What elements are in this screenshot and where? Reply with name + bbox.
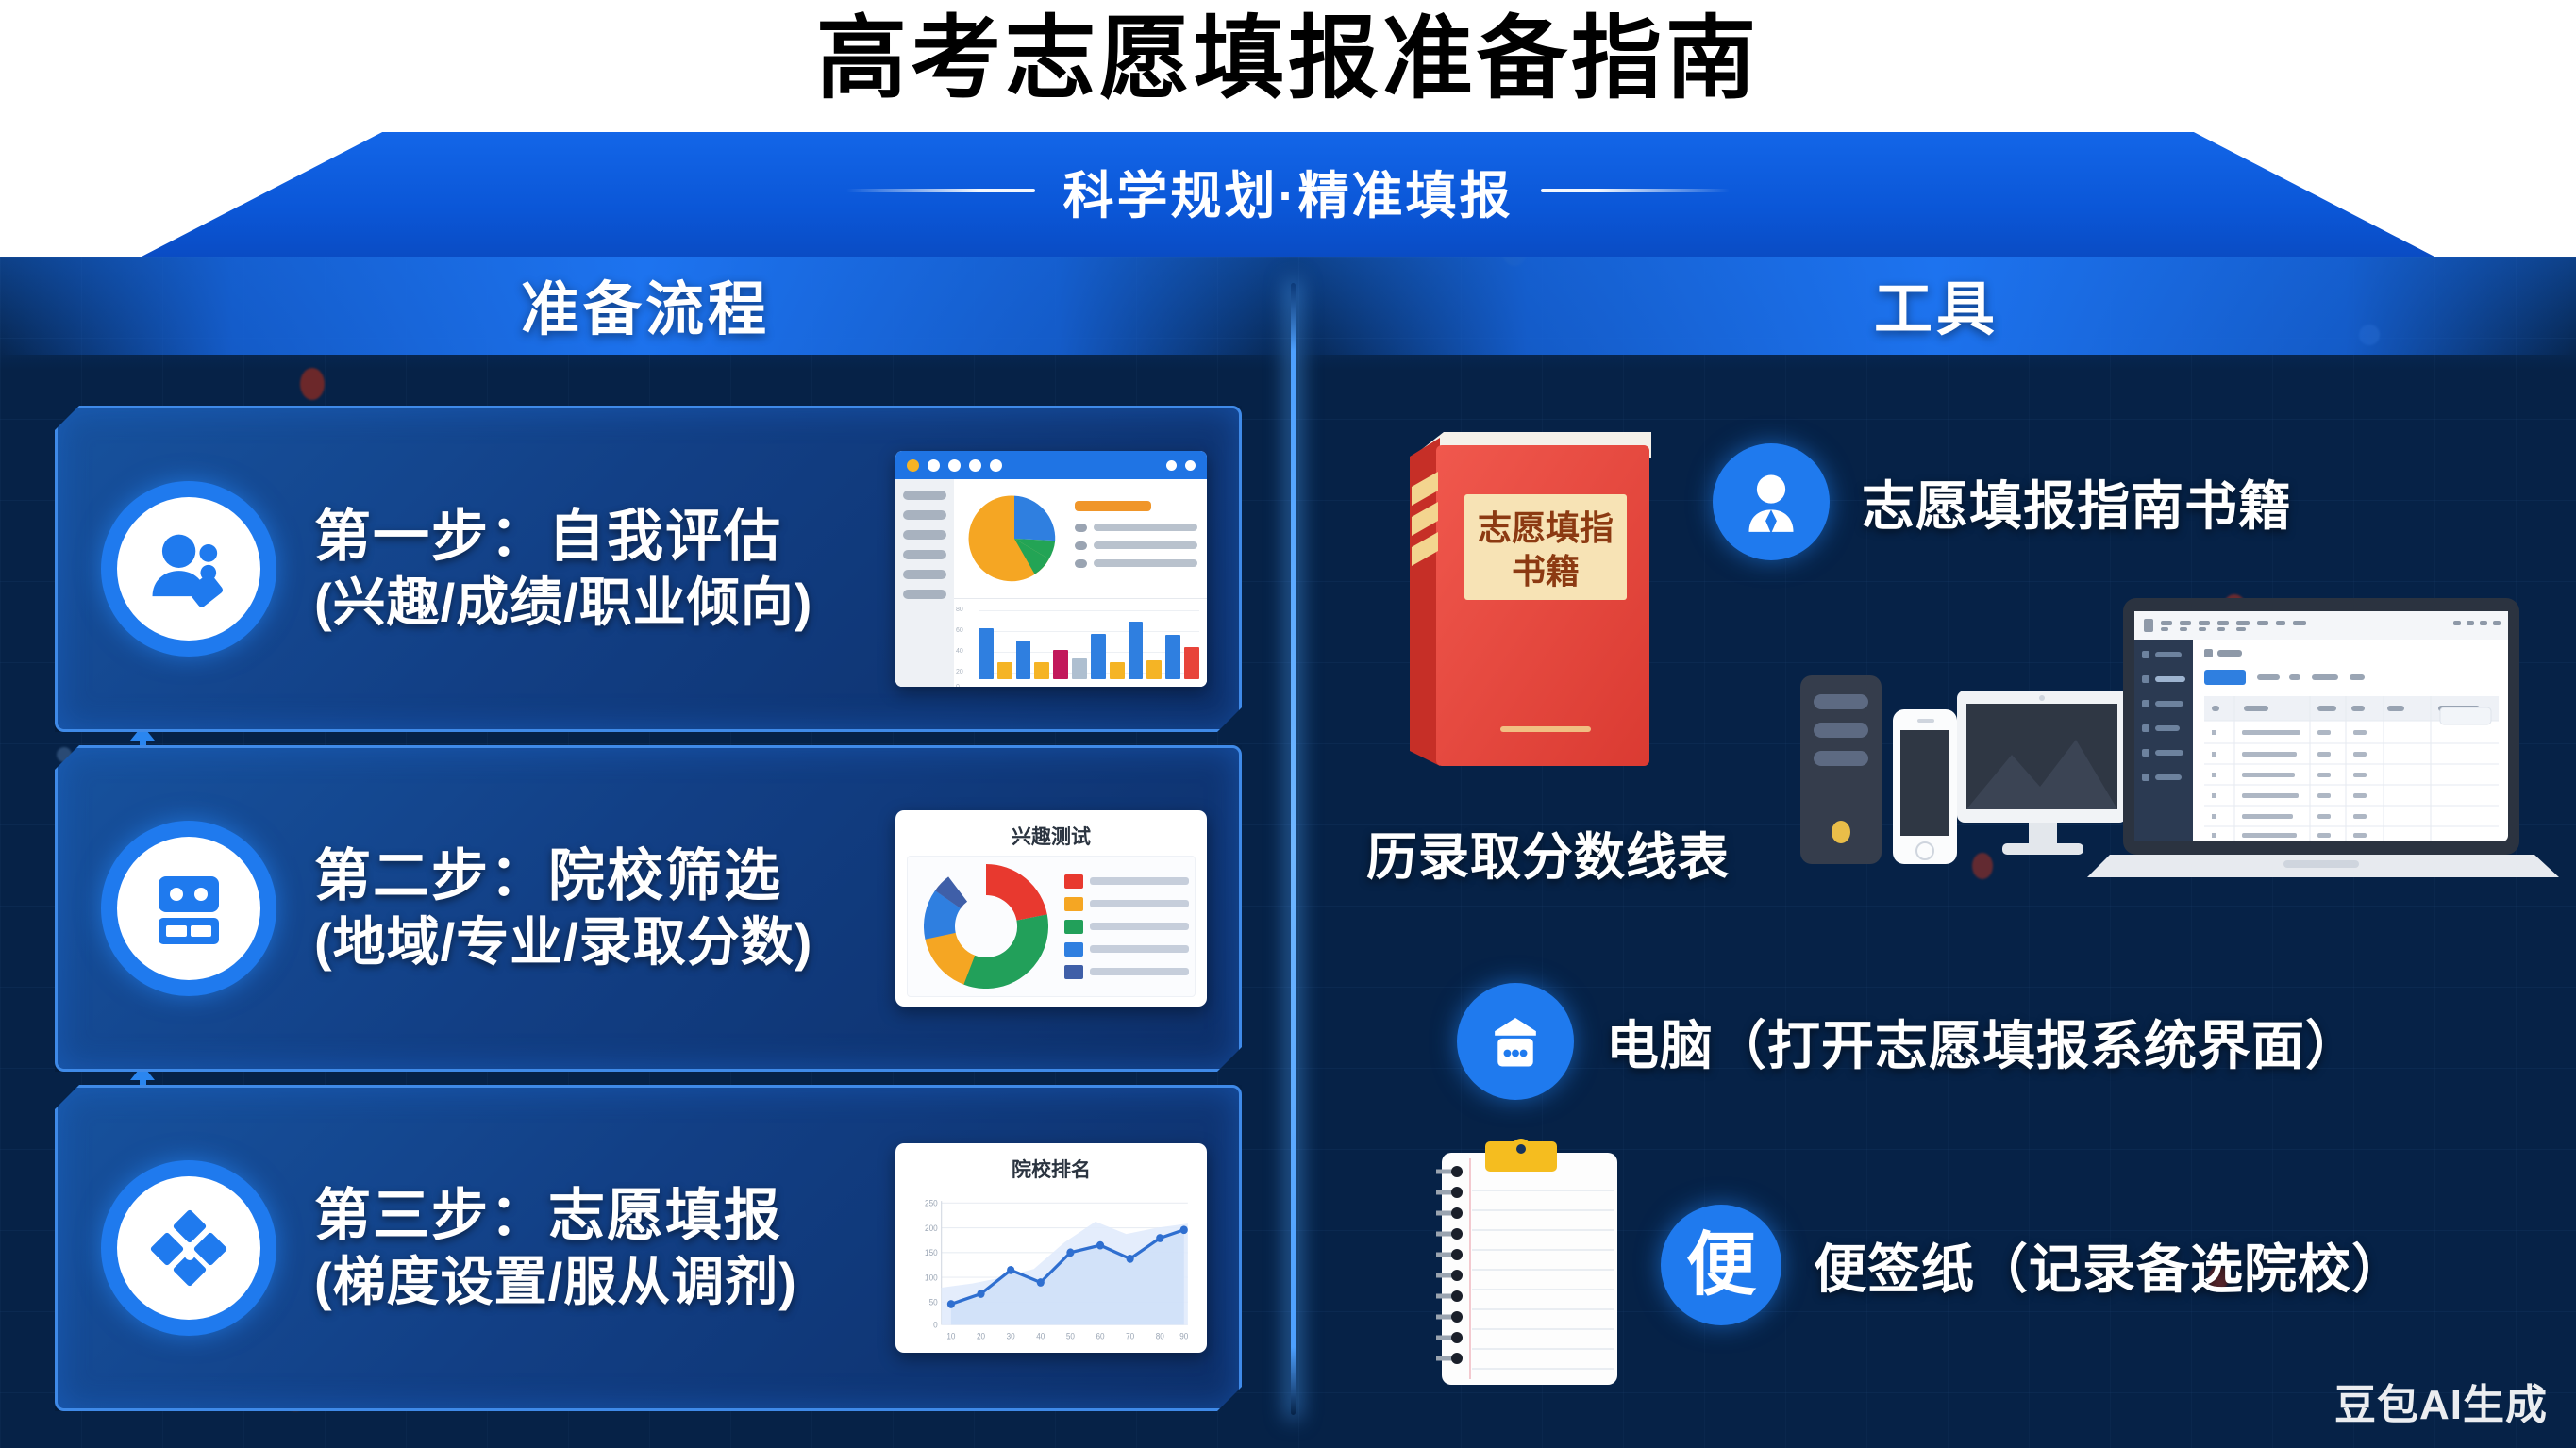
notepad-icon (1413, 1132, 1632, 1394)
poster-body: 准备流程 工具 (0, 257, 2576, 1448)
step-3-text: 第三步：志愿填报 (梯度设置/服从调剂) (314, 1181, 895, 1315)
step-card-1[interactable]: 第一步：自我评估 (兴趣/成绩/职业倾向) (55, 406, 1242, 732)
svg-text:50: 50 (929, 1297, 938, 1307)
step-2-thumbnail: 兴趣测试 (895, 810, 1207, 1007)
left-heading-label: 准备流程 (521, 261, 770, 346)
step-3-thumbnail: 院校排名 (895, 1143, 1207, 1353)
users-icon (140, 520, 238, 618)
line-chart-svg: 250200150 100500 102030 405060 708090 (907, 1189, 1196, 1343)
svg-text:10: 10 (946, 1331, 955, 1340)
step-1-title: 第一步：自我评估 (314, 502, 895, 571)
svg-text:200: 200 (925, 1223, 938, 1233)
poster-header: 高考志愿填报准备指南 科学规划·精准填报 (0, 0, 2576, 257)
page-title: 高考志愿填报准备指南 (0, 8, 2576, 111)
step-card-2[interactable]: 第二步：院校筛选 (地域/专业/录取分数) 兴趣测试 (55, 745, 1242, 1072)
svg-text:70: 70 (1126, 1331, 1134, 1340)
step-1-subtitle: (兴趣/成绩/职业倾向) (314, 571, 895, 635)
ranking-line-chart: 250200150 100500 102030 405060 708090 (907, 1189, 1196, 1343)
tool-label-sticky-note: 便签纸（记录备选院校） (1814, 1227, 2405, 1304)
left-column-heading: 准备流程 (0, 257, 1291, 355)
legend-item (1064, 920, 1189, 934)
step-1-icon-badge (101, 481, 276, 657)
person-badge-icon (1731, 462, 1811, 541)
interest-test-chart-title: 兴趣测试 (907, 822, 1196, 850)
step-2-icon-badge (101, 821, 276, 996)
donut-chart-icon (924, 864, 1048, 989)
robot-filter-icon (142, 861, 236, 956)
banner-rule-left (846, 189, 1035, 192)
bokeh-dot (300, 368, 325, 400)
donut-chart (908, 857, 1064, 996)
devices-icon (1793, 589, 2576, 900)
step-1-thumbnail: 80 60 40 20 0 (895, 451, 1207, 687)
svg-text:60: 60 (1096, 1331, 1104, 1340)
column-divider (1291, 283, 1296, 1415)
pie-chart-icon (963, 488, 1065, 590)
tool-row-book[interactable]: 志愿填报指南书籍 (1713, 443, 2292, 560)
step-1-text: 第一步：自我评估 (兴趣/成绩/职业倾向) (314, 502, 895, 636)
computer-box-icon (1479, 1005, 1552, 1078)
donut-legend (1064, 857, 1195, 996)
svg-text:250: 250 (925, 1198, 938, 1207)
tool-label-computer: 电脑（打开志愿填报系统界面） (1606, 1004, 2359, 1080)
svg-text:30: 30 (1007, 1331, 1015, 1340)
banner-rule-right (1541, 189, 1730, 192)
right-column-heading: 工具 (1296, 257, 2576, 355)
watermark: 豆包AI生成 (2334, 1371, 2548, 1431)
page-subtitle: 科学规划·精准填报 (1063, 154, 1514, 228)
step-3-icon-badge (101, 1160, 276, 1336)
bar-series (979, 608, 1199, 679)
window-dots (907, 459, 1002, 472)
step-3-subtitle: (梯度设置/服从调剂) (314, 1250, 895, 1314)
svg-text:100: 100 (925, 1273, 938, 1282)
window-titlebar (895, 451, 1207, 479)
tool-row-computer[interactable]: 电脑（打开志愿填报系统界面） (1457, 983, 2359, 1100)
legend-item (1064, 897, 1189, 911)
device-cluster-illustration (1793, 589, 2576, 900)
step-2-title: 第二步：院校筛选 (314, 841, 895, 910)
score-table-label: 历录取分数线表 (1366, 815, 1730, 890)
svg-text:0: 0 (933, 1320, 938, 1329)
person-badge-icon-badge (1713, 443, 1830, 560)
legend-item (1064, 942, 1189, 957)
step-card-3[interactable]: 第三步：志愿填报 (梯度设置/服从调剂) 院校排名 (55, 1085, 1242, 1411)
svg-text:40: 40 (1036, 1331, 1045, 1340)
svg-text:20: 20 (977, 1331, 985, 1340)
step-2-text: 第二步：院校筛选 (地域/专业/录取分数) (314, 841, 895, 975)
tool-row-sticky-note[interactable]: 便 便签纸（记录备选院校） (1661, 1205, 2405, 1325)
window-sidebar (895, 479, 954, 687)
svg-text:50: 50 (1066, 1331, 1075, 1340)
book-title-line1: 志愿填指 (1478, 508, 1614, 547)
bar-chart-panel: 80 60 40 20 0 (954, 599, 1207, 687)
right-heading-label: 工具 (1874, 261, 1999, 346)
book-icon: 志愿填指 书籍 (1395, 419, 1668, 777)
sticky-note-icon: 便 (1686, 1230, 1756, 1300)
subtitle-banner: 科学规划·精准填报 (142, 132, 2434, 257)
sticky-note-icon-badge: 便 (1661, 1205, 1781, 1325)
ranking-chart-title: 院校排名 (907, 1155, 1196, 1183)
computer-box-icon-badge (1457, 983, 1574, 1100)
tool-label-book: 志愿填报指南书籍 (1862, 464, 2292, 541)
svg-text:80: 80 (1156, 1331, 1164, 1340)
step-3-title: 第三步：志愿填报 (314, 1181, 895, 1250)
step-2-subtitle: (地域/专业/录取分数) (314, 910, 895, 974)
svg-text:150: 150 (925, 1248, 938, 1257)
book-title-line2: 书籍 (1512, 552, 1580, 591)
infographic-poster: 高考志愿填报准备指南 科学规划·精准填报 准备流程 (0, 0, 2576, 1448)
legend-item (1064, 965, 1189, 979)
legend-item (1064, 874, 1189, 889)
sticky-note-illustration (1413, 1132, 1632, 1394)
diamond-cluster-icon (142, 1201, 236, 1295)
guide-book-illustration: 志愿填指 书籍 (1395, 419, 1668, 777)
summary-lines (1075, 501, 1197, 577)
svg-text:90: 90 (1179, 1331, 1188, 1340)
window-dots-right (1166, 460, 1196, 471)
pie-chart-panel (954, 479, 1207, 599)
